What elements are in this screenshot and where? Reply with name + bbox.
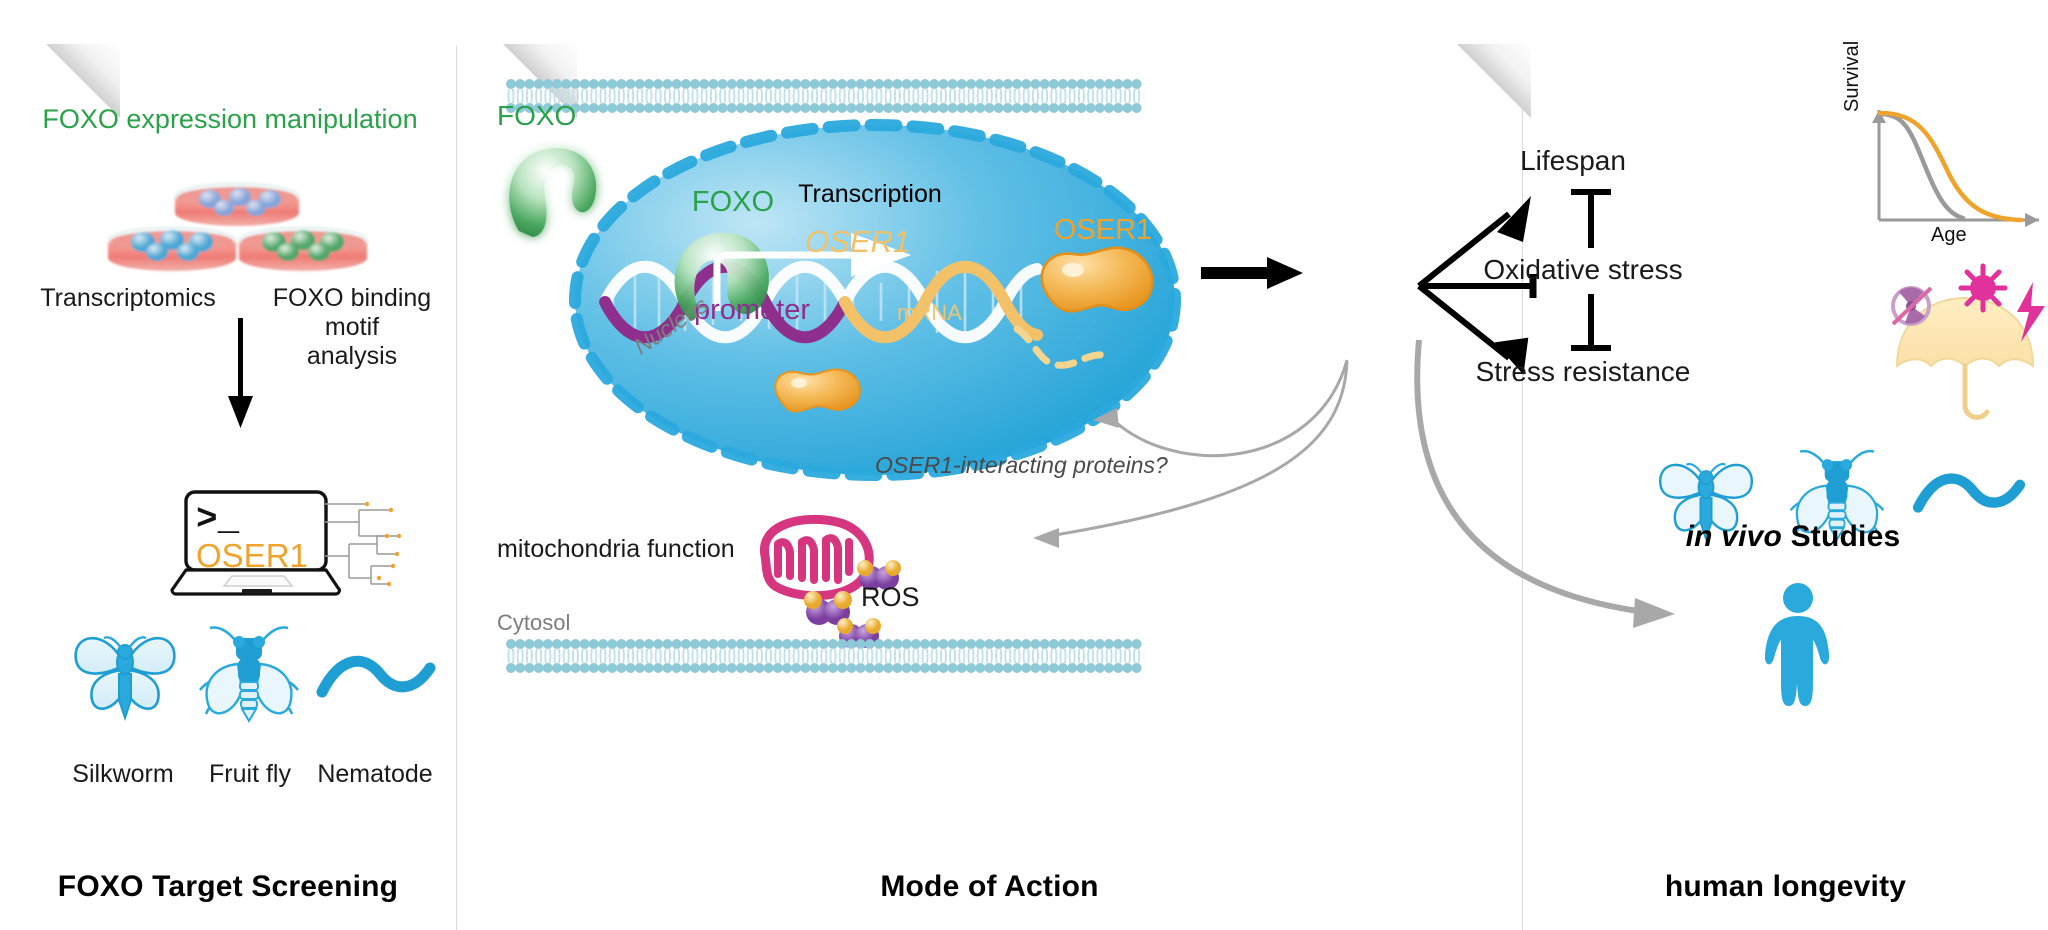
page-curl-icon-3	[1457, 44, 1531, 118]
petri-dish-left	[108, 227, 236, 271]
petri-dish-right	[239, 227, 367, 271]
organism-label-nematode: Nematode	[300, 760, 450, 789]
panel3-title: human longevity	[1523, 870, 2048, 904]
label-lifespan: Lifespan	[1443, 145, 1703, 177]
worm-icon	[318, 648, 434, 718]
panel-in-vivo-studies: Lifespan Oxidative stress Stress resista…	[1523, 0, 2048, 930]
petri-dishes-group	[100, 178, 370, 288]
panel1-heading: FOXO expression manipulation	[10, 104, 450, 135]
lightning-icon	[2017, 282, 2045, 342]
label-transcriptomics: Transcriptomics	[38, 284, 218, 313]
export-arrow-icon	[1201, 255, 1311, 291]
panel-foxo-target-screening: FOXO expression manipulation	[0, 0, 456, 930]
uv-sun-icon	[1961, 266, 2005, 310]
chart-xlabel-age: Age	[1931, 224, 1967, 247]
label-mrna: mRNA	[897, 300, 962, 326]
label-foxo-binding-motif-line2: analysis	[307, 342, 397, 370]
human-longevity-arrow-icon	[1383, 330, 1743, 660]
laptop-prompt: >_	[196, 499, 239, 540]
label-foxo-binding-motif: FOXO binding motif analysis	[252, 284, 452, 370]
phylogenetic-tree-icon	[325, 496, 435, 588]
label-ros: ROS	[861, 582, 971, 613]
human-figure-icon	[1753, 580, 1843, 710]
moth-icon	[66, 620, 184, 732]
panel3-title-rest: Studies	[1782, 520, 1900, 553]
organism-label-silkworm: Silkworm	[48, 760, 198, 789]
label-foxo-binding-motif-line1: FOXO binding motif	[273, 284, 431, 341]
label-oser1-protein: OSER1	[1033, 214, 1173, 247]
fly-icon	[194, 620, 304, 732]
label-gene-oser1: OSER1	[805, 224, 910, 260]
panel-mode-of-action: FOXO	[457, 0, 1522, 930]
oser1-protein-icon	[1037, 248, 1167, 332]
stressors-group	[1885, 262, 2048, 372]
laptop-gene-label: OSER1	[196, 537, 308, 575]
label-cytosol: Cytosol	[497, 610, 570, 636]
chart-ylabel-survival: Survival	[1841, 41, 1864, 112]
organism-label-fruit-fly: Fruit fly	[180, 760, 320, 789]
plasma-membrane-bottom-icon	[507, 638, 1147, 674]
petri-dish-top	[175, 183, 299, 226]
radiation-icon	[1893, 287, 1931, 324]
label-oser1-interacting: OSER1-interacting proteins?	[875, 452, 1168, 479]
panel2-title: Mode of Action	[457, 870, 1522, 904]
survival-chart	[1853, 92, 2048, 242]
panel1-title: FOXO Target Screening	[0, 870, 456, 904]
label-transcription: Transcription	[755, 180, 985, 209]
